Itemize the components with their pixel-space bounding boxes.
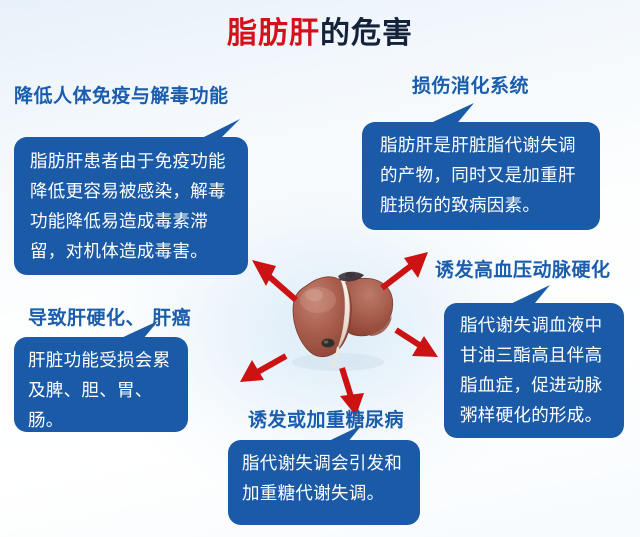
- heading-immunity: 降低人体免疫与解毒功能: [14, 84, 229, 108]
- callout-digestive-text: 脂肪肝是肝脏脂代谢失调的产物，同时又是加重肝脏损伤的致病因素。: [380, 131, 588, 221]
- heading-hypertension: 诱发高血压动脉硬化: [435, 258, 611, 282]
- callout-diabetes-text: 脂代谢失调会引发和加重糖代谢失调。: [242, 449, 410, 509]
- callout-digestive: 脂肪肝是肝脏脂代谢失调的产物，同时又是加重肝脏损伤的致病因素。: [362, 122, 600, 230]
- callout-hypertension-text: 脂代谢失调血液中甘油三酯高且伴高脂血症，促进动脉粥样硬化的形成。: [460, 311, 614, 431]
- page-title-highlight: 脂肪肝: [227, 16, 320, 51]
- liver-illustration: [276, 262, 398, 374]
- callout-diabetes: 脂代谢失调会引发和加重糖代谢失调。: [228, 440, 420, 525]
- infographic-canvas: 脂肪肝的危害: [0, 0, 640, 537]
- heading-digestive: 损伤消化系统: [412, 74, 529, 98]
- callout-cirrhosis-text: 肝脏功能受损会累及脾、胆、胃、肠。: [28, 346, 178, 436]
- callout-hypertension: 脂代谢失调血液中甘油三酯高且伴高脂血症，促进动脉粥样硬化的形成。: [444, 303, 624, 438]
- page-title: 脂肪肝的危害: [0, 14, 640, 54]
- callout-cirrhosis: 肝脏功能受损会累及脾、胆、胃、肠。: [14, 337, 188, 432]
- callout-immunity: 脂肪肝患者由于免疫功能降低更容易被感染，解毒功能降低易造成毒素滞留，对机体造成毒…: [14, 137, 248, 275]
- arrow-right: [396, 330, 438, 357]
- callout-immunity-text: 脂肪肝患者由于免疫功能降低更容易被感染，解毒功能降低易造成毒素滞留，对机体造成毒…: [30, 147, 234, 267]
- page-title-rest: 的危害: [320, 16, 413, 51]
